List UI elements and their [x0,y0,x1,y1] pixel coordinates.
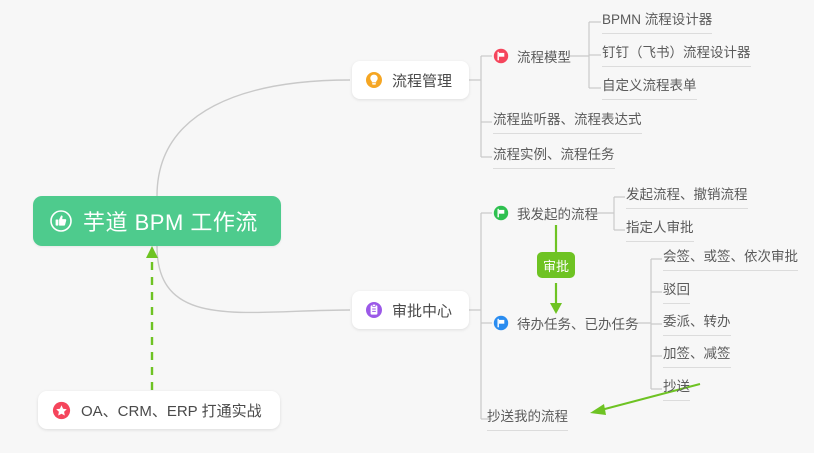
root-node[interactable]: 芋道 BPM 工作流 [33,196,281,246]
mindmap-canvas: 芋道 BPM 工作流 流程管理 审批中心 [0,0,814,453]
root-label: 芋道 BPM 工作流 [83,205,258,237]
clipboard-icon [365,301,383,319]
connector-root-to-approval-center [157,246,350,313]
annotation-bottom-note[interactable]: OA、CRM、ERP 打通实战 [38,391,280,429]
branch-node-approval-center[interactable]: 审批中心 [352,291,469,329]
leaf-delegate-transfer[interactable]: 委派、转办 [663,313,731,336]
label-process-model: 流程模型 [517,46,571,66]
leaf-assignee-approval[interactable]: 指定人审批 [626,219,694,242]
node-todo-done-tasks[interactable]: 待办任务、已办任务 [493,312,639,334]
annotation-bottom-note-label: OA、CRM、ERP 打通实战 [81,400,262,421]
label-my-initiated: 我发起的流程 [517,203,598,223]
flag-icon [493,315,509,331]
flag-icon [493,48,509,64]
leaf-reject[interactable]: 驳回 [663,281,690,304]
annotation-arrowhead-up [146,246,158,258]
branch-label-approval-center: 审批中心 [392,300,452,321]
lightbulb-icon [365,71,383,89]
node-process-model[interactable]: 流程模型 [493,45,571,67]
label-todo-done-tasks: 待办任务、已办任务 [517,313,639,333]
leaf-cc-to-me[interactable]: 抄送我的流程 [487,408,568,431]
branch-label-process-management: 流程管理 [392,70,452,91]
annotation-approval-tag: 审批 [537,252,575,278]
leaf-bpmn-designer[interactable]: BPMN 流程设计器 [602,11,712,34]
thumbs-up-icon [50,210,72,232]
branch-node-process-management[interactable]: 流程管理 [352,61,469,99]
leaf-start-cancel-process[interactable]: 发起流程、撤销流程 [626,186,748,209]
leaf-dingtalk-designer[interactable]: 钉钉（飞书）流程设计器 [602,44,751,67]
leaf-custom-form[interactable]: 自定义流程表单 [602,77,697,100]
leaf-countersign[interactable]: 会签、或签、依次审批 [663,248,798,271]
annotation-arrowhead-cc [590,404,606,415]
leaf-listener-expression[interactable]: 流程监听器、流程表达式 [493,111,642,134]
connector-root-to-process-management [157,80,350,196]
annotation-approval-tag-label: 审批 [543,256,569,275]
leaf-cc[interactable]: 抄送 [663,378,690,401]
leaf-instance-task[interactable]: 流程实例、流程任务 [493,146,615,169]
leaf-add-remove-sign[interactable]: 加签、减签 [663,345,731,368]
flag-icon [493,205,509,221]
node-my-initiated[interactable]: 我发起的流程 [493,202,598,224]
star-icon [52,401,71,420]
